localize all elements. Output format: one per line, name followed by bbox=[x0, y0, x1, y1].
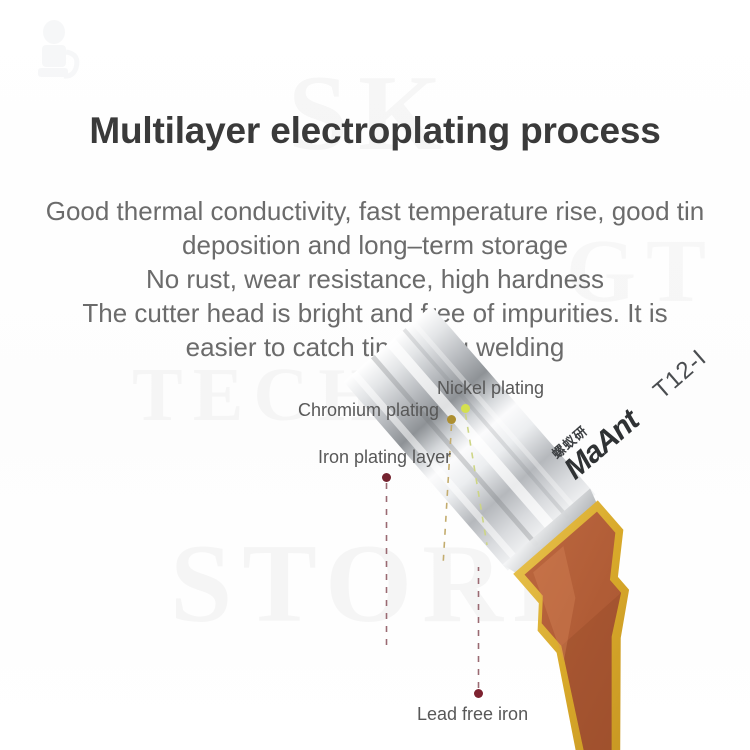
callout-dot-chromium-plating bbox=[447, 415, 456, 424]
callout-label-nickel-plating: Nickel plating bbox=[437, 378, 544, 399]
callout-dot-lead-free-iron bbox=[474, 689, 483, 698]
callout-label-chromium-plating: Chromium plating bbox=[298, 400, 439, 421]
callout-label-lead-free-iron: Lead free iron bbox=[417, 704, 528, 725]
soldering-iron-tip-illustration: 螺蚁研 MaAnt T12-I bbox=[0, 0, 750, 750]
product-model: T12-I bbox=[648, 344, 712, 404]
infographic-canvas: SK GT TECH STORE Multilayer electroplati… bbox=[0, 0, 750, 750]
callout-dot-nickel-plating bbox=[461, 404, 470, 413]
callout-dot-iron-plating bbox=[382, 473, 391, 482]
tip-core-shadow bbox=[473, 593, 750, 750]
callout-label-iron-plating: Iron plating layer bbox=[318, 447, 451, 468]
svg-text:T12-I: T12-I bbox=[648, 344, 712, 404]
